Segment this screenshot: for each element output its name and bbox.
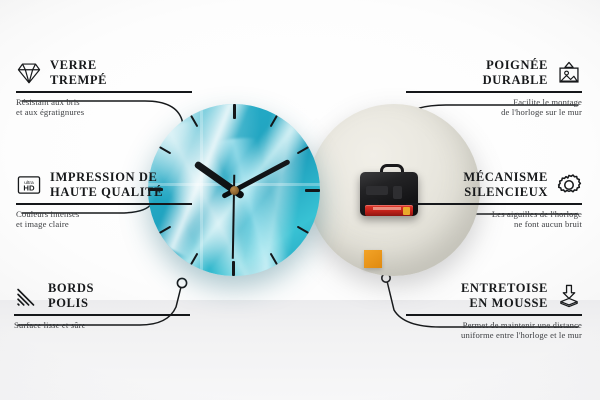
callout-title-line2: HAUTE QUALITÉ [50,185,163,200]
callout-rule [14,314,190,316]
callout-desc-line2: uniforme entre l'horloge et le mur [406,330,582,341]
callout-title-line1: IMPRESSION DE [50,170,163,185]
picture-hanger-icon [556,60,582,86]
infographic-canvas: VERRE TREMPÉ Résistant aux bris et aux é… [0,0,600,400]
callout-desc-line2: et image claire [16,219,192,230]
callout-rule [406,314,582,316]
callout-rule [16,91,192,93]
callout-rule [406,203,582,205]
callout-bords-polis: BORDS POLIS Surface lisse et sûre [14,281,190,330]
callout-desc-line2: ne font aucun bruit [406,219,582,230]
mechanism-detail [393,186,402,199]
foam-spacer-square [364,250,382,268]
callout-poignee-durable: POIGNÉE DURABLE Facilite le montage de l… [406,58,582,118]
callout-desc-line1: Résistant aux bris [16,97,192,108]
callout-title-line2: EN MOUSSE [461,296,548,311]
callout-desc-line1: Permet de maintenir une distance [406,320,582,331]
callout-desc-line2: et aux égratignures [16,107,192,118]
foam-spacer [364,250,386,272]
gear-icon [556,172,582,198]
callout-title-line2: SILENCIEUX [463,185,548,200]
diamond-icon [16,60,42,86]
mechanism-detail [366,186,388,195]
callout-title-line2: DURABLE [483,73,548,88]
hour-tick [234,189,320,191]
callout-impression-haute-qualite: ultra HD IMPRESSION DE HAUTE QUALITÉ Cou… [16,170,192,230]
callout-desc-line1: Surface lisse et sûre [14,320,190,331]
callout-desc-line1: Couleurs intenses [16,209,192,220]
callout-title-line1: MÉCANISME [463,170,548,185]
battery-label [373,207,401,210]
callout-desc-line2: de l'horloge sur le mur [406,107,582,118]
callout-verre-trempe: VERRE TREMPÉ Résistant aux bris et aux é… [16,58,192,118]
callout-title-line1: BORDS [48,281,94,296]
polished-edges-icon [14,283,40,309]
callout-title-line1: ENTRETOISE [461,281,548,296]
callout-mecanisme-silencieux: MÉCANISME SILENCIEUX Les aiguilles de l'… [406,170,582,230]
callout-title-line2: TREMPÉ [50,73,107,88]
callout-title-line1: VERRE [50,58,107,73]
ultra-hd-icon: ultra HD [16,172,42,198]
callout-title-line2: POLIS [48,296,94,311]
clock-center-cap [230,186,239,195]
callout-title-line1: POIGNÉE [483,58,548,73]
callout-desc-line1: Facilite le montage [406,97,582,108]
callout-entretoise-en-mousse: ENTRETOISE EN MOUSSE Permet de maintenir… [406,281,582,341]
callout-desc-line1: Les aiguilles de l'horloge [406,209,582,220]
svg-text:HD: HD [23,183,35,192]
foam-spacer-icon [556,283,582,309]
callout-rule [406,91,582,93]
callout-rule [16,203,192,205]
